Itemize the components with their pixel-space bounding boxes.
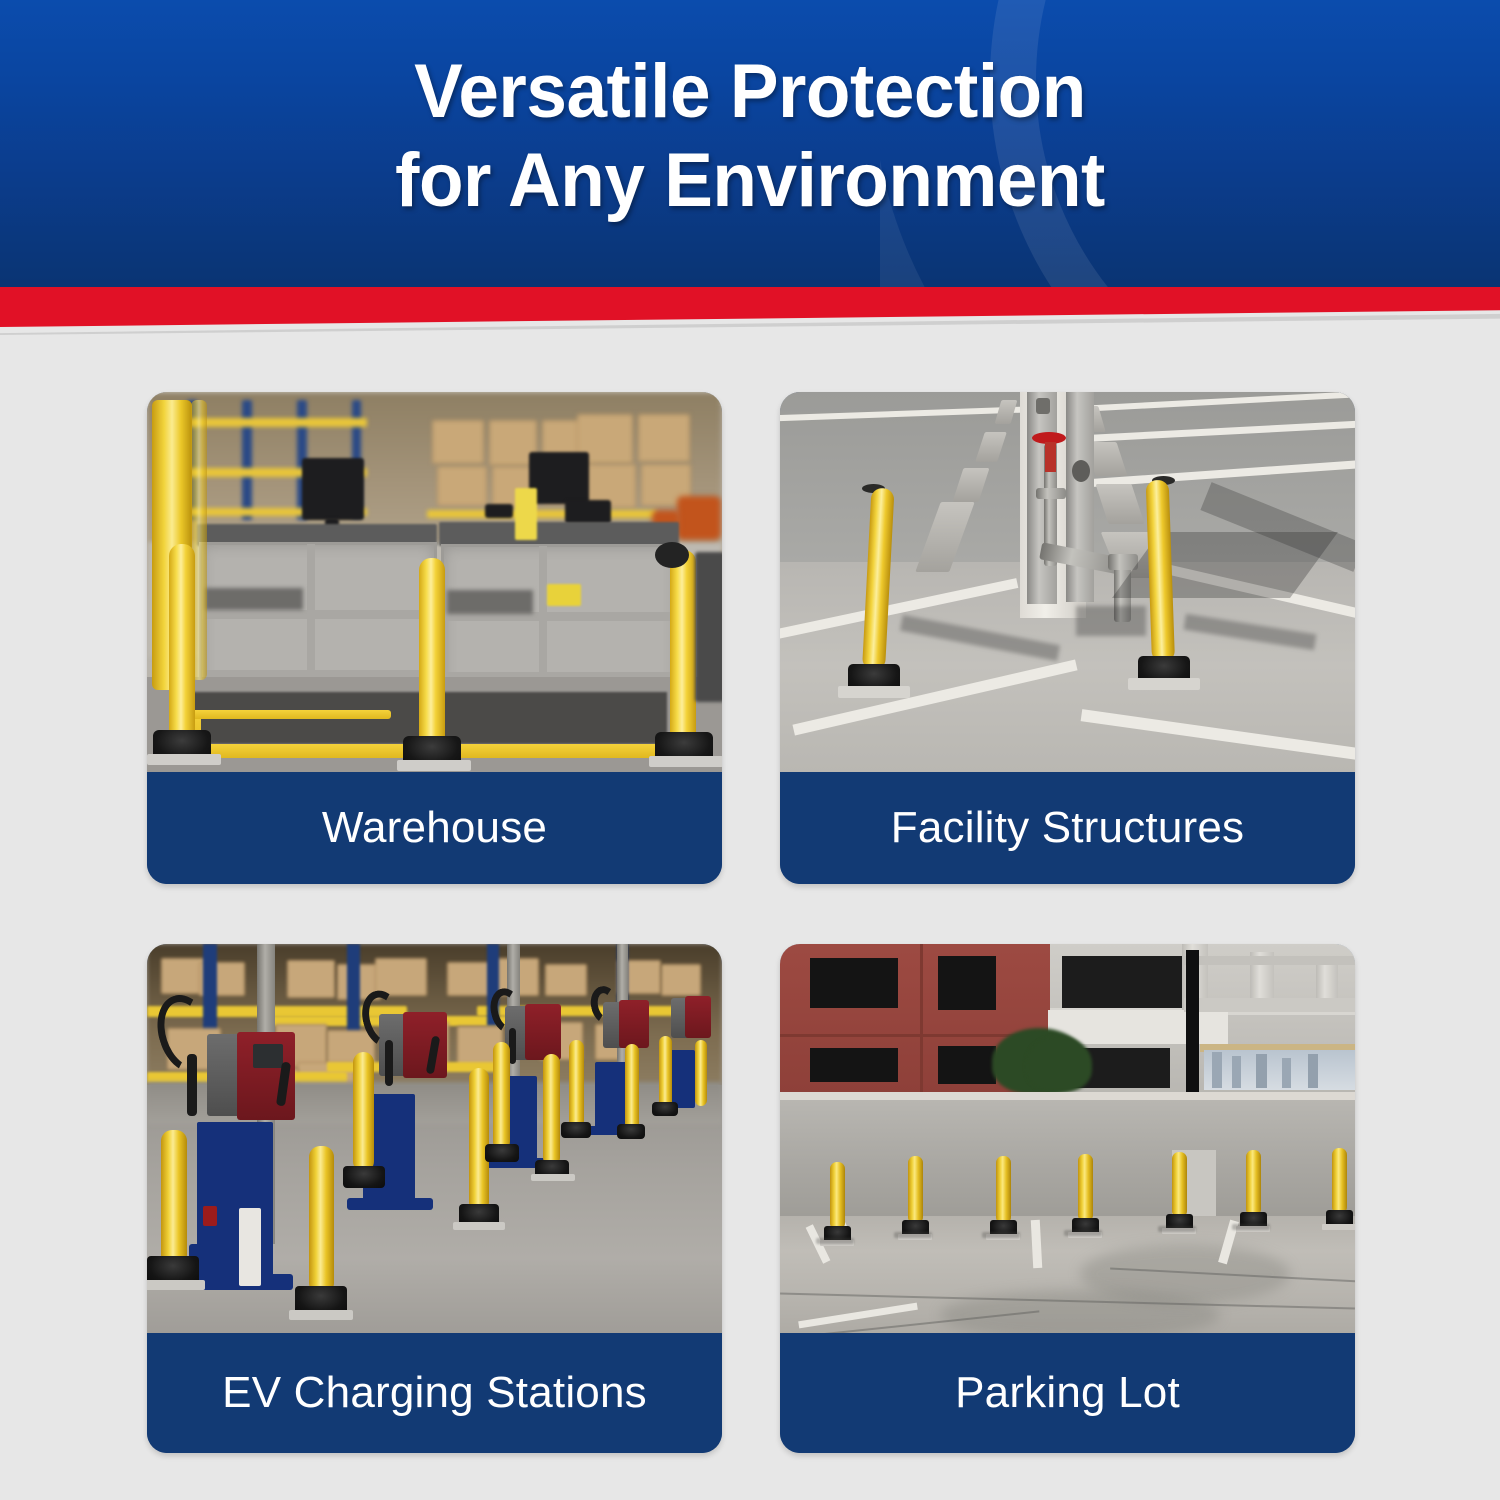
card-facility-structures[interactable]: Facility Structures [780, 392, 1355, 884]
photo-facility-structures [780, 392, 1355, 772]
card-label-parking-lot: Parking Lot [780, 1333, 1355, 1453]
title-line-2: for Any Environment [30, 137, 1470, 226]
infographic-page: Versatile Protection for Any Environment [0, 0, 1500, 1500]
card-grid: Warehouse [147, 392, 1355, 1453]
card-label-warehouse: Warehouse [147, 772, 722, 884]
card-label-facility-structures: Facility Structures [780, 772, 1355, 884]
card-warehouse[interactable]: Warehouse [147, 392, 722, 884]
card-ev-charging[interactable]: EV Charging Stations [147, 944, 722, 1453]
photo-parking-lot [780, 944, 1355, 1333]
header-banner: Versatile Protection for Any Environment [0, 0, 1500, 287]
card-parking-lot[interactable]: Parking Lot [780, 944, 1355, 1453]
page-title: Versatile Protection for Any Environment [30, 48, 1470, 226]
photo-ev-charging [147, 944, 722, 1333]
title-line-1: Versatile Protection [30, 48, 1470, 137]
photo-warehouse [147, 392, 722, 772]
card-label-ev-charging: EV Charging Stations [147, 1333, 722, 1453]
